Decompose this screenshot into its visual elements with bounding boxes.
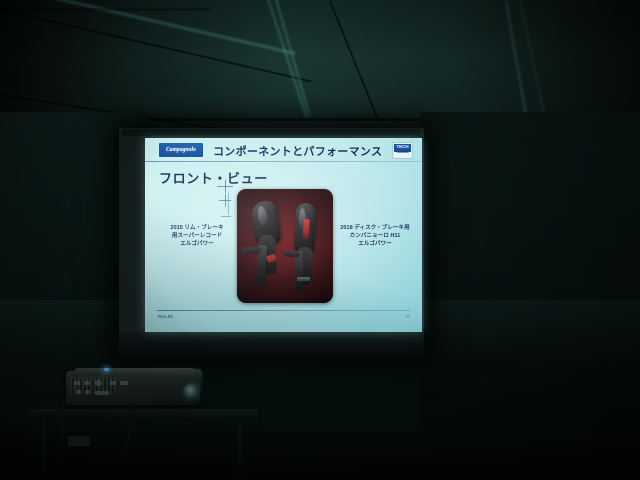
footer-revision: Rev.00 [158,314,173,319]
screen-top-rail [122,129,420,136]
projected-slide: Campagnolo コンポーネントとパフォーマンス TECH TRAINING… [145,138,422,332]
projector-port [85,390,90,394]
dimension-line-vertical [228,193,229,215]
caption-right: 2018 ディスク・ブレーキ用 カンパニョーロ H11 エルゴパワー [335,224,415,248]
table-leg [60,421,64,466]
slide-title: コンポーネントとパフォーマンス [213,142,393,159]
slide-subtitle: フロント・ビュー [159,168,268,187]
footer-divider [157,310,410,311]
projector-top-shell [73,368,196,376]
caption-right-line-1: 2018 ディスク・ブレーキ用 [335,224,415,232]
projector-port [110,381,116,385]
screen-bottom-frame [119,332,424,358]
rim-brake-lever-clamp [241,246,261,254]
product-photo [237,189,333,303]
badge-line-2: TRAINING [396,150,409,155]
caption-right-line-2: カンパニョーロ H11 [335,232,415,240]
caption-left-line-2: 用スーパーレコード [161,232,233,240]
caption-left-line-3: エルゴパワー [161,240,233,248]
campagnolo-logo-icon: Campagnolo [159,143,203,157]
projector-port [95,391,109,395]
footer-page-number: 20 [405,314,410,319]
projector-lens-icon [184,384,199,399]
table-socket [68,436,90,446]
table-leg [238,421,242,480]
caption-right-line-3: エルゴパワー [335,240,415,248]
disc-brake-lever-clamp [284,250,300,257]
dimension-tick-mid-v [225,194,226,207]
wall-right [420,112,640,480]
dimension-tick-top-v [225,180,226,193]
projector-port [74,381,80,385]
header-divider [145,161,422,162]
table-leg [42,421,46,480]
ceiling [0,0,640,128]
dimension-tick-low [221,216,231,217]
tech-training-badge-icon: TECH TRAINING [392,142,413,159]
caption-left-line-1: 2015 リム・ブレーキ [161,224,233,232]
room-scene: Campagnolo コンポーネントとパフォーマンス TECH TRAINING… [0,0,640,480]
projector-port [84,381,90,385]
projector-port [120,381,128,385]
floor [0,430,640,480]
projector-power-led-icon [104,368,109,371]
projector-dial [95,380,102,386]
disc-brake-lever-band [297,277,310,281]
caption-left: 2015 リム・ブレーキ 用スーパーレコード エルゴパワー [161,224,233,248]
campagnolo-logo-text: Campagnolo [166,147,196,154]
slide-header: Campagnolo コンポーネントとパフォーマンス TECH TRAINING [145,140,422,161]
